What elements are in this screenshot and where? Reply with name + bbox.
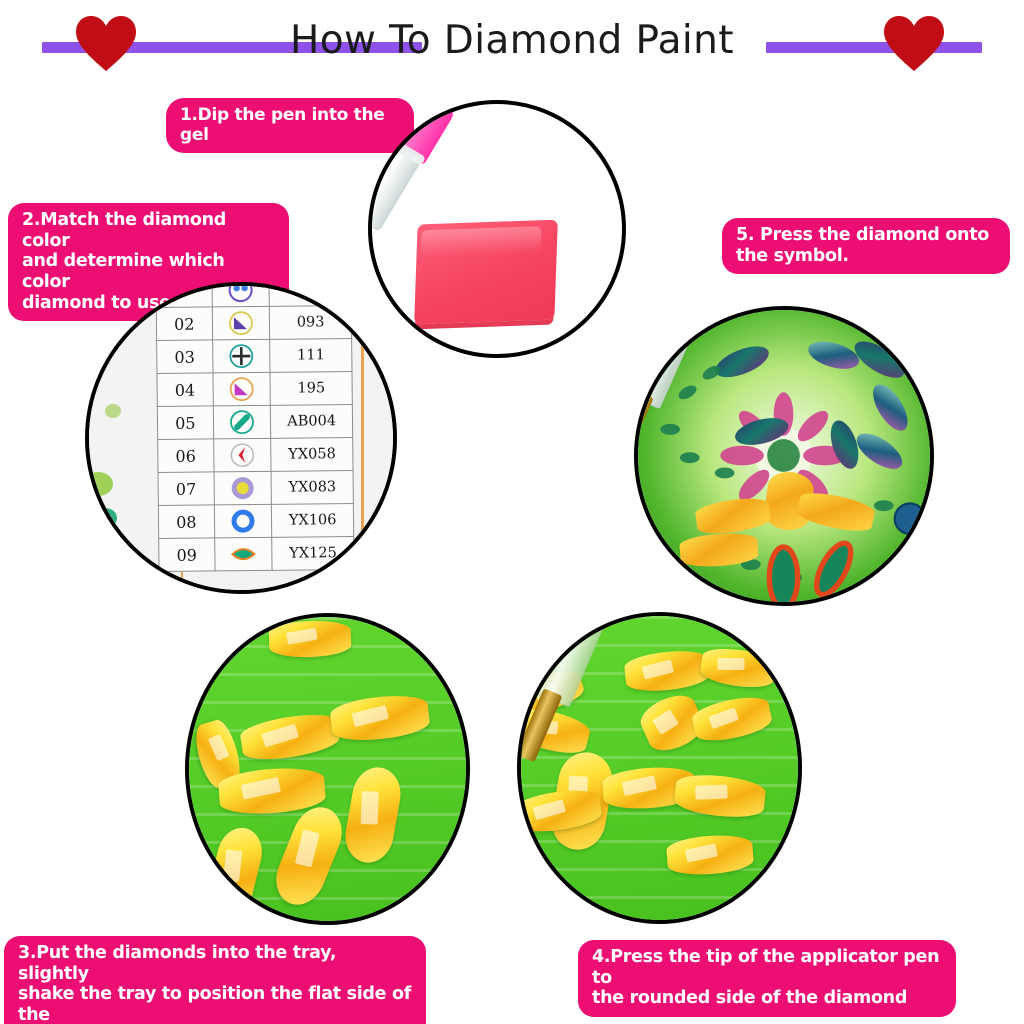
table-row: 04195 bbox=[157, 371, 352, 406]
gel-pad bbox=[414, 220, 558, 325]
chart-cell-no: 05 bbox=[157, 406, 213, 440]
double-dot-circle-icon bbox=[227, 286, 253, 303]
chart-cell-code: 195 bbox=[270, 371, 352, 405]
table-row: 07YX083 bbox=[158, 470, 353, 505]
photo-diamond-onto-canvas bbox=[634, 306, 934, 606]
chart-cell-symbol bbox=[212, 339, 270, 373]
chart-cell-no: 08 bbox=[158, 505, 214, 539]
leaf-icon bbox=[230, 541, 256, 567]
table-row: 09YX125 bbox=[159, 536, 354, 571]
chart-cell-symbol bbox=[214, 537, 272, 571]
step-3-label: 3.Put the diamonds into the tray, slight… bbox=[4, 936, 426, 1024]
photo-diamonds-in-tray bbox=[185, 613, 470, 925]
chart-cell-no: 04 bbox=[157, 373, 213, 407]
dot-icon bbox=[230, 475, 256, 501]
table-row: 02093 bbox=[156, 305, 351, 340]
slash-icon bbox=[229, 409, 255, 435]
chart-cell-no: 06 bbox=[158, 439, 214, 473]
chart-cell-symbol bbox=[213, 372, 271, 406]
table-row: 028 bbox=[156, 286, 351, 308]
chart-cell-symbol bbox=[212, 306, 270, 340]
chart-cell-no: 09 bbox=[159, 538, 215, 572]
infographic-page: How To Diamond Paint 1.Dip the pen into … bbox=[0, 0, 1024, 1024]
table-row: 03111 bbox=[157, 338, 352, 373]
chart-cell-code: YX125 bbox=[272, 536, 354, 570]
chart-cell-code: 028 bbox=[269, 286, 351, 306]
chart-cell-code: YX058 bbox=[271, 437, 353, 471]
chart-cell-symbol bbox=[213, 405, 271, 439]
triangle-icon bbox=[228, 376, 254, 402]
pen-tip bbox=[521, 688, 562, 762]
chart-cell-code: AB004 bbox=[271, 404, 353, 438]
photo-symbol-chart: 02802093031110419505AB00406YX05807YX0830… bbox=[85, 282, 397, 594]
table-row: 05AB004 bbox=[157, 404, 352, 439]
chart-cell-code: YX106 bbox=[272, 503, 354, 537]
page-title: How To Diamond Paint bbox=[0, 18, 1024, 63]
chart-cell-code: YX083 bbox=[271, 470, 353, 504]
chart-cell-code: 111 bbox=[270, 338, 352, 372]
diamond bbox=[268, 620, 351, 659]
chart-cell-symbol bbox=[214, 504, 272, 538]
symbol-legend-table: 02802093031110419505AB00406YX05807YX0830… bbox=[155, 286, 354, 572]
page-header: How To Diamond Paint bbox=[0, 0, 1024, 96]
chart-cell-no: 03 bbox=[157, 340, 213, 374]
chart-cell-no bbox=[156, 286, 212, 308]
table-row: 08YX106 bbox=[158, 503, 353, 538]
triangle-icon bbox=[228, 310, 254, 336]
canvas-print-fleck bbox=[93, 508, 117, 528]
chart-cell-symbol bbox=[214, 471, 272, 505]
table-row: 06YX058 bbox=[158, 437, 353, 472]
chart-cell-symbol bbox=[212, 286, 270, 307]
chart-cell-symbol bbox=[213, 438, 271, 472]
plus-icon bbox=[228, 343, 254, 369]
chart-cell-no: 07 bbox=[158, 472, 214, 506]
chart-cell-no: 02 bbox=[156, 307, 212, 341]
ring-icon bbox=[230, 508, 256, 534]
step-4-label: 4.Press the tip of the applicator pen to… bbox=[578, 940, 956, 1017]
photo-pen-picking-diamond bbox=[517, 612, 802, 924]
canvas-print-fleck bbox=[105, 404, 121, 418]
chevron-left-icon bbox=[229, 442, 255, 468]
chart-cell-code: 093 bbox=[270, 305, 352, 339]
step-5-label: 5. Press the diamond onto the symbol. bbox=[722, 218, 1010, 274]
photo-pen-dipping-gel bbox=[368, 100, 626, 358]
